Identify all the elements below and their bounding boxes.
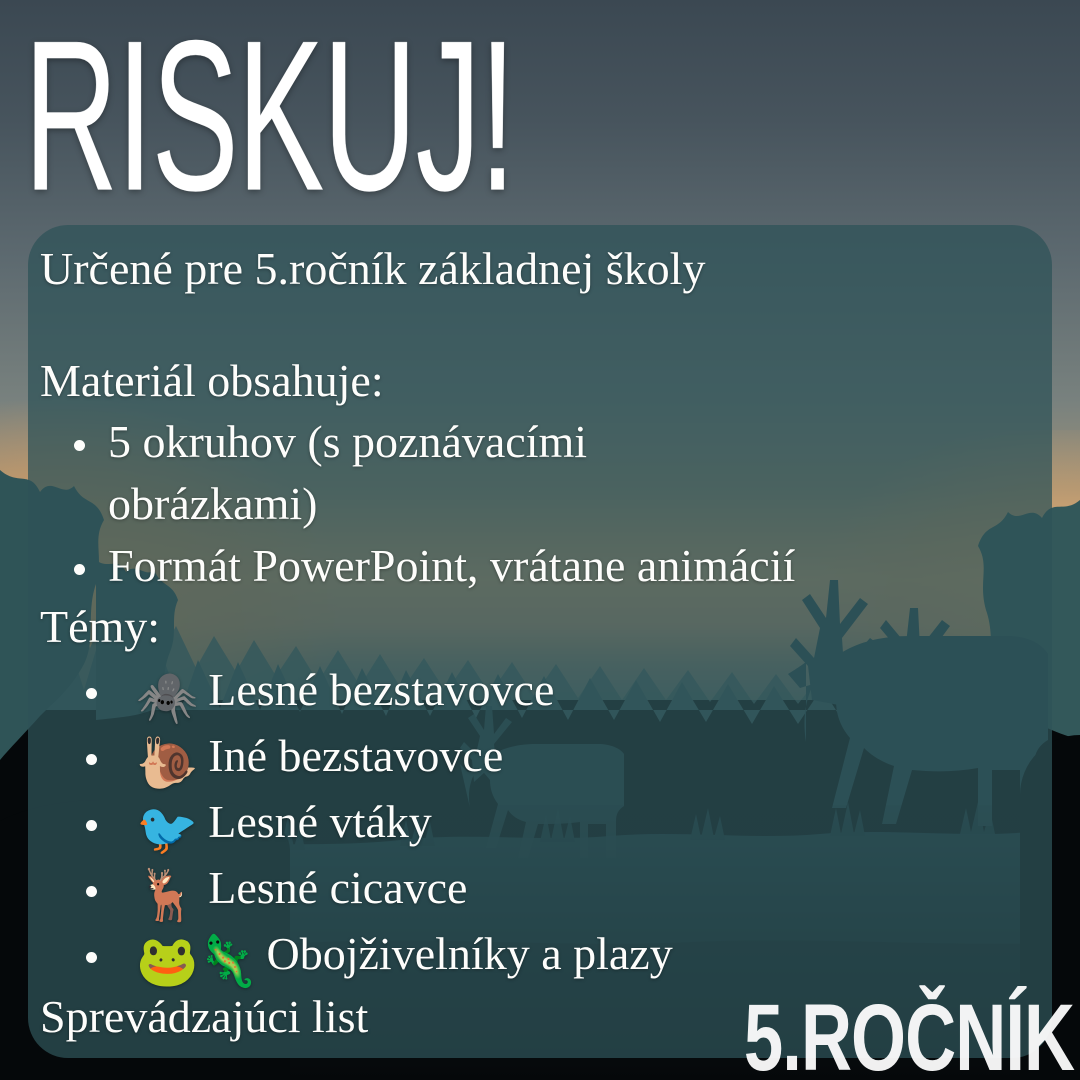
list-item: 5 okruhov (s poznávacími obrázkami) — [40, 411, 720, 535]
frog-and-lizard-emoji: 🐸🦎 — [136, 936, 257, 986]
list-item: Formát PowerPoint, vrátane animácií — [40, 535, 1052, 597]
bird-emoji: 🐦 — [136, 804, 198, 854]
watermark-grade: 5.ROČNÍK — [744, 991, 1074, 1080]
spider-emoji: 🕷️ — [136, 672, 198, 722]
list-item-topic-invertebrates-forest: 🕷️Lesné bezstavovce — [40, 657, 1052, 723]
spacer — [40, 299, 1052, 351]
topic-label: Obojživelníky a plazy — [267, 928, 673, 979]
list-item-topic-invertebrates-other: 🐌Iné bezstavovce — [40, 723, 1052, 789]
deer-emoji: 🦌 — [136, 870, 198, 920]
content-body: Určené pre 5.ročník základnej školy Mate… — [28, 225, 1052, 1058]
list-item-topic-birds: 🐦Lesné vtáky — [40, 789, 1052, 855]
audience-line: Určené pre 5.ročník základnej školy — [40, 239, 1052, 299]
contains-heading: Materiál obsahuje: — [40, 351, 1052, 411]
topic-label: Lesné bezstavovce — [208, 664, 554, 715]
topic-label: Lesné cicavce — [208, 862, 467, 913]
poster-canvas: RISKUJ! Určené pre 5.ročník základnej šk… — [0, 0, 1080, 1080]
topics-heading: Témy: — [40, 597, 1052, 657]
list-item-topic-mammals: 🦌Lesné cicavce — [40, 855, 1052, 921]
topics-list: 🕷️Lesné bezstavovce 🐌Iné bezstavovce 🐦Le… — [40, 657, 1052, 987]
topic-label: Iné bezstavovce — [208, 730, 503, 781]
page-title: RISKUJ! — [24, 14, 515, 218]
topic-label: Lesné vtáky — [208, 796, 432, 847]
contains-list: 5 okruhov (s poznávacími obrázkami) Form… — [40, 411, 1052, 597]
snail-emoji: 🐌 — [136, 738, 198, 788]
list-item-topic-amphibians-reptiles: 🐸🦎Obojživelníky a plazy — [40, 921, 1052, 987]
